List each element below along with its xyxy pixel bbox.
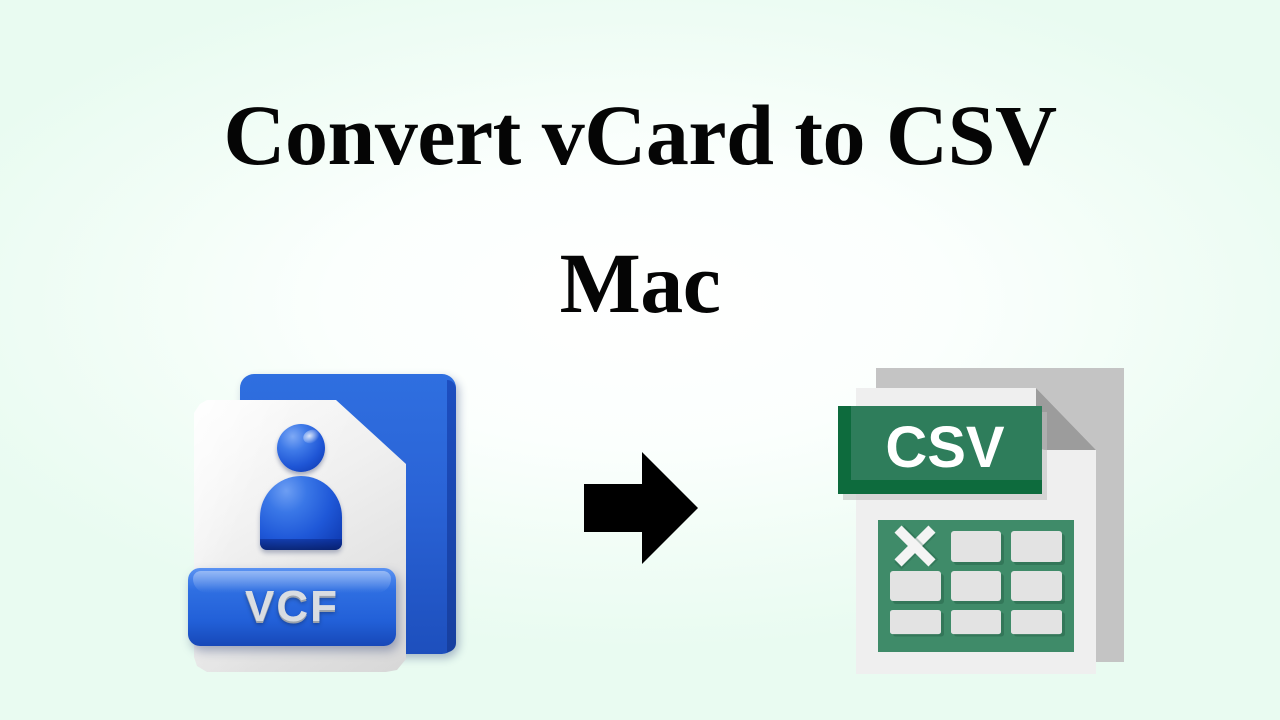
avatar-head: [277, 424, 325, 472]
vcf-back-card-edge: [447, 380, 456, 652]
spreadsheet-cell: [951, 571, 1002, 602]
spreadsheet-grid: [878, 520, 1074, 652]
spreadsheet-cell: [1011, 610, 1062, 634]
vcf-format-badge-label: VCF: [245, 582, 339, 632]
page-title: Convert vCard to CSV Mac: [0, 62, 1280, 358]
csv-format-badge-bottom-edge: [838, 480, 1042, 494]
spreadsheet-cell: [951, 531, 1002, 562]
csv-format-badge: CSV: [838, 406, 1042, 494]
avatar-body: [260, 476, 342, 550]
vcf-format-badge: VCF: [188, 568, 396, 646]
contact-avatar-icon: [258, 424, 344, 550]
csv-format-badge-label: CSV: [885, 414, 1004, 481]
spreadsheet-cell: [951, 610, 1002, 634]
spreadsheet-cell: [890, 610, 941, 634]
spreadsheet-grid-cells: [890, 531, 1062, 641]
vcf-contact-card-icon: VCF: [178, 362, 478, 682]
spreadsheet-cell: [890, 571, 941, 602]
spreadsheet-x-mark-icon: [890, 531, 941, 562]
right-arrow-glyph: [584, 452, 698, 564]
spreadsheet-cell: [1011, 531, 1062, 562]
spreadsheet-cell: [1011, 571, 1062, 602]
csv-spreadsheet-file-icon: CSV: [856, 362, 1134, 682]
right-arrow-icon: [584, 450, 700, 566]
poster-canvas: Convert vCard to CSV Mac VCF CSV: [0, 0, 1280, 720]
